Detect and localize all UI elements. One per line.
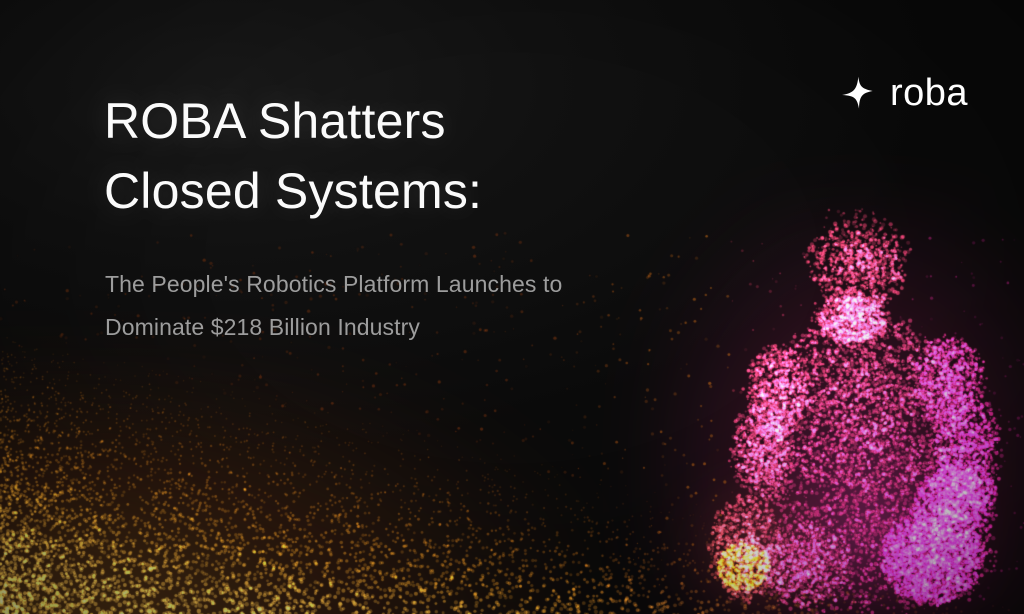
- subheadline: The People's Robotics Platform Launches …: [105, 263, 562, 349]
- headline: ROBA Shatters Closed Systems:: [104, 86, 482, 226]
- brand-wordmark: roba: [890, 74, 968, 112]
- four-point-star-icon: [840, 76, 874, 110]
- brand-logo[interactable]: roba: [840, 74, 968, 112]
- press-banner: roba ROBA Shatters Closed Systems: The P…: [0, 0, 1024, 614]
